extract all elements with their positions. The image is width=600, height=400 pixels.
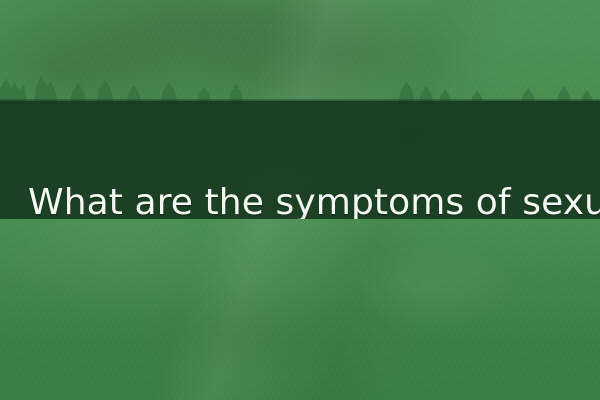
caption-text-block: What are the symptoms of sexual ly trans…: [24, 108, 596, 219]
caption-line-1: What are the symptoms of sexual: [28, 184, 596, 219]
caption-banner: What are the symptoms of sexual ly trans…: [0, 101, 600, 219]
treeline-silhouette-icon: [0, 62, 600, 104]
screenshot-root: What are the symptoms of sexual ly trans…: [0, 0, 600, 400]
